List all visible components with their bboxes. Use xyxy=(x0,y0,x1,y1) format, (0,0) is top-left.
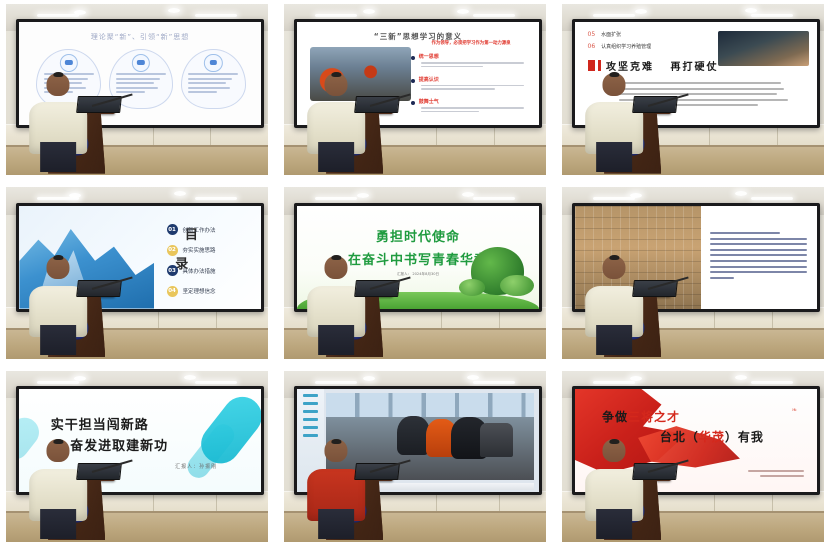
toc-item-02: 02夯实实施思路 xyxy=(167,245,254,256)
slide-photo xyxy=(718,31,810,66)
speaker-figure xyxy=(30,439,88,538)
photo-5: 勇担时代使命 在奋斗中书写青春华章 汇报人： 2024年8月30日 xyxy=(284,187,546,358)
photo-9: 争做三将之才 台北（华茂）有我 ❧ xyxy=(562,371,824,542)
collage-cell-7[interactable]: 实干担当闯新路 奋发进取建新功 汇报人：孙振刚 xyxy=(0,367,274,546)
slide-lead: 作为领导，必须把学习作为第一动力源泉 xyxy=(411,40,532,46)
slide-footer xyxy=(748,467,804,477)
photo-8 xyxy=(284,371,546,542)
collage-cell-6[interactable] xyxy=(556,183,830,362)
collage-cell-3[interactable]: 05水面扩张 06认真组织学习养殖管理 攻坚克难 再打硬仗 xyxy=(556,0,830,179)
speaker-figure xyxy=(586,256,644,355)
slide-line-1: 争做三将之才 xyxy=(602,408,680,425)
slide-heading: 攻坚克难 再打硬仗 xyxy=(588,58,719,73)
slide-line-1: 实干担当闯新路 xyxy=(51,414,149,433)
toc-item-01: 01创新工作办法 xyxy=(167,224,254,235)
slide-presenter: 汇报人：孙振刚 xyxy=(175,463,217,470)
speaker-figure xyxy=(308,256,366,355)
slide-text-block xyxy=(710,228,806,282)
bullet-2-heading: 提高认识 xyxy=(411,76,532,83)
collage-cell-8[interactable] xyxy=(278,367,552,546)
bubble-3 xyxy=(181,49,246,109)
speaker-figure xyxy=(308,439,366,538)
decorative-mark-icon: ❧ xyxy=(791,406,797,414)
collage-cell-9[interactable]: 争做三将之才 台北（华茂）有我 ❧ xyxy=(556,367,830,546)
toc-item-03: 03具体办法措施 xyxy=(167,265,254,276)
collage-cell-5[interactable]: 勇担时代使命 在奋斗中书写青春华章 汇报人： 2024年8月30日 xyxy=(278,183,552,362)
bullet-3-heading: 鼓舞士气 xyxy=(411,98,532,105)
collage-cell-1[interactable]: 理论聚“新”、引领“新”思想 xyxy=(0,0,274,179)
photo-4: 目 录 01创新工作办法 02夯实实施思路 03具体办法措施 04坚定理想信念 xyxy=(6,187,268,358)
speaker-figure xyxy=(30,256,88,355)
slide-line-1: 勇担时代使命 xyxy=(297,226,538,245)
slide-title: 理论聚“新”、引领“新”思想 xyxy=(19,32,260,42)
bullet-1-heading: 统一思想 xyxy=(411,53,532,60)
bullet-2: 提高认识 xyxy=(411,76,532,90)
bullet-3: 鼓舞士气 xyxy=(411,98,532,112)
slide-line-2: 台北（华茂）有我 xyxy=(660,428,764,445)
photo-2: “三新”思想学习的意义 作为领导，必须把学习作为第一动力源泉 统一思想 提高认识 xyxy=(284,4,546,175)
photo-6 xyxy=(562,187,824,358)
photo-collage-grid: 理论聚“新”、引领“新”思想 xyxy=(0,0,830,546)
agenda-item-05: 05水面扩张 xyxy=(588,31,622,38)
fish-icon xyxy=(60,54,78,72)
collage-cell-4[interactable]: 目 录 01创新工作办法 02夯实实施思路 03具体办法措施 04坚定理想信念 xyxy=(0,183,274,362)
photo-7: 实干担当闯新路 奋发进取建新功 汇报人：孙振刚 xyxy=(6,371,268,542)
photo-3: 05水面扩张 06认真组织学习养殖管理 攻坚克难 再打硬仗 xyxy=(562,4,824,175)
speaker-figure xyxy=(586,73,644,172)
toc-item-04: 04坚定理想信念 xyxy=(167,286,254,297)
speaker-figure xyxy=(586,439,644,538)
photo-1: 理论聚“新”、引领“新”思想 xyxy=(6,4,268,175)
bullet-1: 统一思想 xyxy=(411,53,532,67)
speaker-figure xyxy=(30,73,88,172)
speaker-figure xyxy=(308,73,366,172)
collage-cell-2[interactable]: “三新”思想学习的意义 作为领导，必须把学习作为第一动力源泉 统一思想 提高认识 xyxy=(278,0,552,179)
cloud-lock-icon xyxy=(132,54,150,72)
agenda-item-06: 06认真组织学习养殖管理 xyxy=(588,43,652,50)
lightbulb-icon xyxy=(204,54,222,72)
